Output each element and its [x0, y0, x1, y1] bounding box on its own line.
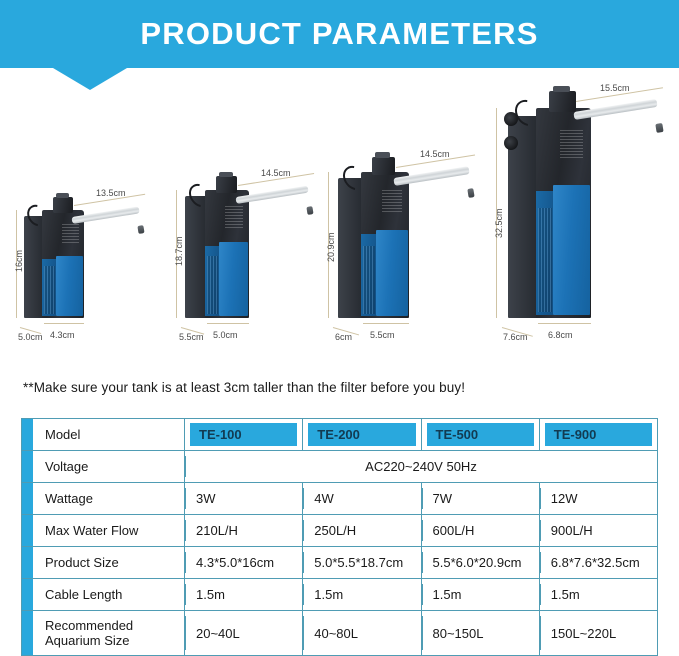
cell-value: 250L/H: [303, 515, 421, 547]
outlet-tube-end-cap: [306, 206, 313, 215]
row-label-line-1: Recommended: [45, 618, 184, 633]
outlet-tube-end-cap: [467, 188, 474, 198]
page-title: PRODUCT PARAMETERS: [0, 0, 679, 68]
cell-value: 3W: [185, 483, 303, 515]
row-accent-bar: [22, 547, 34, 579]
unit-side-face: [185, 196, 207, 318]
filter-unit: [24, 208, 86, 318]
unit-top-knob: [375, 152, 390, 158]
dimension-label-width: 6.8cm: [548, 330, 573, 340]
row-accent-bar: [22, 451, 34, 483]
unit-label-plate: [62, 224, 79, 244]
cell-value: 900L/H: [539, 515, 657, 547]
cell-value: 150L~220L: [539, 611, 657, 656]
unit-top-cap: [53, 197, 73, 213]
banner-notch-triangle: [53, 68, 127, 90]
dimension-line-width: [363, 323, 409, 324]
model-cell-te-500: TE-500: [421, 419, 539, 451]
row-accent-bar: [22, 611, 34, 656]
unit-side-face: [338, 178, 363, 318]
unit-top-knob: [219, 172, 233, 177]
table-row-product-size: Product Size 4.3*5.0*16cm 5.0*5.5*18.7cm…: [22, 547, 658, 579]
filter-unit: [508, 106, 594, 318]
table-row-max-water-flow: Max Water Flow 210L/H 250L/H 600L/H 900L…: [22, 515, 658, 547]
unit-top-knob: [553, 86, 570, 92]
dimension-label-width: 5.5cm: [370, 330, 395, 340]
dimension-label-height: 20.9cm: [326, 232, 336, 262]
row-label: Recommended Aquarium Size: [33, 611, 185, 656]
row-accent-bar: [22, 579, 34, 611]
unit-blue-panel: [553, 185, 590, 315]
row-accent-bar: [22, 515, 34, 547]
model-cell-te-900: TE-900: [539, 419, 657, 451]
table-row-voltage: Voltage AC220~240V 50Hz: [22, 451, 658, 483]
dimension-label-tube: 15.5cm: [600, 83, 630, 93]
cell-value: 5.0*5.5*18.7cm: [303, 547, 421, 579]
unit-intake-grill: [44, 266, 55, 314]
cell-value: 12W: [539, 483, 657, 515]
row-label: Voltage: [33, 451, 185, 483]
dimension-label-height: 18.7cm: [174, 236, 184, 266]
unit-label-plate: [560, 130, 583, 158]
row-label: Model: [33, 419, 185, 451]
outlet-tube-end-cap: [137, 225, 144, 234]
cell-value: 4.3*5.0*16cm: [185, 547, 303, 579]
row-accent-bar: [22, 419, 34, 451]
cell-value: 80~150L: [421, 611, 539, 656]
outlet-tube-end-cap: [655, 123, 663, 133]
unit-top-cap: [549, 91, 576, 112]
cell-value: 1.5m: [303, 579, 421, 611]
model-cell-te-200: TE-200: [303, 419, 421, 451]
dimension-label-tube: 14.5cm: [261, 168, 291, 178]
dimension-line-width: [538, 323, 591, 324]
dimension-label-depth: 7.6cm: [503, 332, 528, 342]
outlet-tube: [573, 99, 657, 120]
model-chip-label: TE-200: [308, 423, 415, 446]
unit-top-cap: [216, 176, 237, 193]
dimension-label-depth: 6cm: [335, 332, 352, 342]
unit-intake-grill: [538, 208, 552, 312]
table-row-wattage: Wattage 3W 4W 7W 12W: [22, 483, 658, 515]
dimension-line-width: [207, 323, 249, 324]
model-chip-label: TE-900: [545, 423, 652, 446]
unit-top-cap: [372, 157, 395, 175]
dimension-line-width: [44, 323, 84, 324]
row-label: Product Size: [33, 547, 185, 579]
row-label: Wattage: [33, 483, 185, 515]
cell-value: 1.5m: [185, 579, 303, 611]
table-row-recommended-aquarium-size: Recommended Aquarium Size 20~40L 40~80L …: [22, 611, 658, 656]
unit-top-knob: [56, 193, 69, 198]
purchase-note: **Make sure your tank is at least 3cm ta…: [23, 380, 465, 395]
cell-value: 5.5*6.0*20.9cm: [421, 547, 539, 579]
cell-value: 1.5m: [421, 579, 539, 611]
table-row-cable-length: Cable Length 1.5m 1.5m 1.5m 1.5m: [22, 579, 658, 611]
row-accent-bar: [22, 483, 34, 515]
dimension-label-height: 32.5cm: [494, 208, 504, 238]
model-cell-te-100: TE-100: [185, 419, 303, 451]
dimension-label-depth: 5.5cm: [179, 332, 204, 342]
dimension-label-height: 16cm: [14, 250, 24, 272]
dimension-label-depth: 5.0cm: [18, 332, 43, 342]
row-label-line-2: Aquarium Size: [45, 633, 184, 648]
cell-value: 20~40L: [185, 611, 303, 656]
unit-blue-panel: [56, 256, 83, 316]
suction-cup-lower: [504, 136, 518, 150]
dimension-label-width: 4.3cm: [50, 330, 75, 340]
filter-unit: [185, 188, 251, 318]
unit-intake-grill: [363, 246, 375, 314]
dimension-label-width: 5.0cm: [213, 330, 238, 340]
row-label: Cable Length: [33, 579, 185, 611]
cell-value: 4W: [303, 483, 421, 515]
model-chip-label: TE-100: [190, 423, 297, 446]
unit-label-plate: [382, 190, 402, 214]
cell-value: 600L/H: [421, 515, 539, 547]
unit-blue-panel: [219, 242, 248, 316]
product-parameters-table: Model TE-100 TE-200 TE-500 TE-900 Voltag…: [21, 418, 658, 656]
unit-side-face: [24, 216, 44, 318]
unit-label-plate: [225, 206, 243, 228]
model-chip-label: TE-500: [427, 423, 534, 446]
cell-value: 7W: [421, 483, 539, 515]
cell-value: 6.8*7.6*32.5cm: [539, 547, 657, 579]
voltage-value: AC220~240V 50Hz: [185, 451, 658, 483]
unit-blue-panel: [376, 230, 408, 316]
cell-value: 1.5m: [539, 579, 657, 611]
dimension-label-tube: 13.5cm: [96, 188, 126, 198]
unit-intake-grill: [207, 256, 218, 314]
cell-value: 210L/H: [185, 515, 303, 547]
table-row-model: Model TE-100 TE-200 TE-500 TE-900: [22, 419, 658, 451]
page-header-banner: PRODUCT PARAMETERS: [0, 0, 679, 68]
filter-unit: [338, 170, 412, 318]
dimension-label-tube: 14.5cm: [420, 149, 450, 159]
product-illustrations: 13.5cm 16cm 5.0cm 4.3cm 14.5cm 18.7cm 5.…: [0, 95, 679, 360]
row-label: Max Water Flow: [33, 515, 185, 547]
cell-value: 40~80L: [303, 611, 421, 656]
